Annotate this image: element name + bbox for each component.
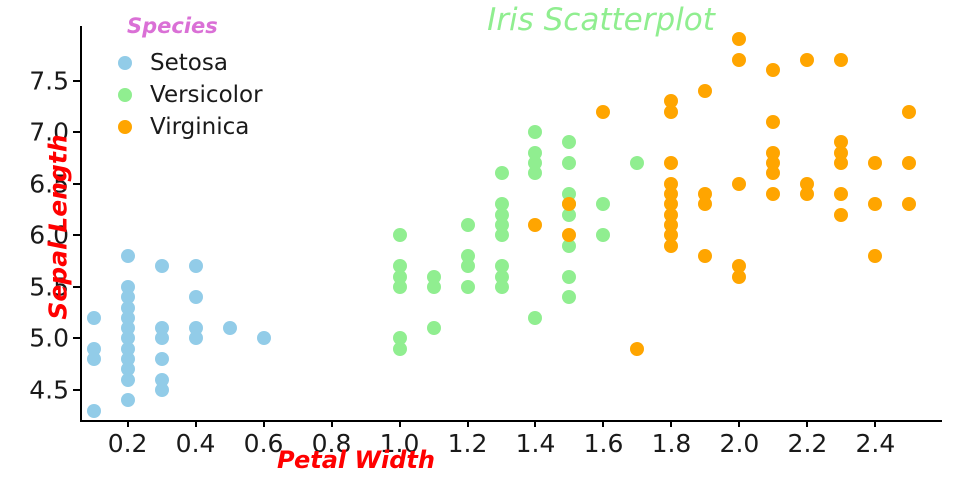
- x-tick-mark: [738, 420, 740, 427]
- data-point-virginica: [868, 249, 882, 263]
- data-point-virginica: [562, 228, 576, 242]
- data-point-setosa: [87, 311, 101, 325]
- data-point-versicolor: [596, 197, 610, 211]
- data-point-setosa: [121, 393, 135, 407]
- x-tick-mark: [399, 420, 401, 427]
- data-point-versicolor: [495, 166, 509, 180]
- data-point-versicolor: [393, 280, 407, 294]
- data-point-versicolor: [528, 125, 542, 139]
- data-point-versicolor: [427, 280, 441, 294]
- data-point-virginica: [664, 156, 678, 170]
- x-tick-label: 2.0: [720, 431, 760, 456]
- y-tick-mark: [73, 183, 80, 185]
- x-tick-mark: [670, 420, 672, 427]
- data-point-versicolor: [393, 228, 407, 242]
- data-point-virginica: [698, 84, 712, 98]
- data-point-versicolor: [528, 311, 542, 325]
- data-point-virginica: [868, 197, 882, 211]
- data-point-virginica: [834, 53, 848, 67]
- data-point-setosa: [155, 352, 169, 366]
- data-point-virginica: [596, 105, 610, 119]
- data-point-versicolor: [427, 321, 441, 335]
- data-point-setosa: [155, 383, 169, 397]
- data-point-virginica: [732, 177, 746, 191]
- x-tick-label: 0.4: [176, 431, 216, 456]
- data-point-setosa: [189, 290, 203, 304]
- data-point-setosa: [87, 404, 101, 418]
- data-point-virginica: [528, 218, 542, 232]
- data-point-virginica: [868, 156, 882, 170]
- data-point-virginica: [732, 270, 746, 284]
- data-point-versicolor: [630, 156, 644, 170]
- data-point-virginica: [732, 32, 746, 46]
- data-point-setosa: [155, 259, 169, 273]
- y-tick-mark: [73, 80, 80, 82]
- data-point-virginica: [562, 197, 576, 211]
- data-point-setosa: [87, 352, 101, 366]
- data-point-versicolor: [393, 342, 407, 356]
- x-tick-label: 0.2: [108, 431, 148, 456]
- data-point-versicolor: [562, 135, 576, 149]
- data-point-virginica: [800, 187, 814, 201]
- x-tick-label: 1.6: [584, 431, 624, 456]
- data-point-setosa: [121, 373, 135, 387]
- data-point-virginica: [766, 115, 780, 129]
- x-tick-label: 1.2: [448, 431, 488, 456]
- y-tick-mark: [73, 389, 80, 391]
- x-axis-label: Petal Width: [277, 446, 435, 474]
- data-point-virginica: [766, 187, 780, 201]
- data-point-virginica: [834, 156, 848, 170]
- x-tick-mark: [874, 420, 876, 427]
- data-point-versicolor: [461, 218, 475, 232]
- x-tick-label: 2.4: [856, 431, 896, 456]
- x-tick-mark: [263, 420, 265, 427]
- data-point-virginica: [664, 105, 678, 119]
- data-point-virginica: [698, 197, 712, 211]
- x-axis-line: [80, 420, 942, 422]
- data-point-setosa: [257, 331, 271, 345]
- x-tick-mark: [127, 420, 129, 427]
- y-tick-label: 4.5: [29, 378, 69, 403]
- y-tick-label: 7.5: [29, 68, 69, 93]
- scatterplot-figure: Iris Scatterplot Species Setosa Versicol…: [0, 0, 960, 500]
- data-point-virginica: [732, 53, 746, 67]
- data-point-setosa: [121, 249, 135, 263]
- plot-area: 4.55.05.56.06.57.07.5 0.20.40.60.81.01.2…: [80, 30, 940, 420]
- y-tick-mark: [73, 234, 80, 236]
- data-point-virginica: [800, 53, 814, 67]
- data-point-virginica: [698, 249, 712, 263]
- data-point-versicolor: [562, 270, 576, 284]
- data-point-versicolor: [528, 166, 542, 180]
- x-tick-label: 2.2: [788, 431, 828, 456]
- x-tick-mark: [534, 420, 536, 427]
- y-tick-mark: [73, 337, 80, 339]
- data-point-setosa: [189, 331, 203, 345]
- data-point-virginica: [766, 63, 780, 77]
- data-point-versicolor: [495, 228, 509, 242]
- data-point-versicolor: [596, 228, 610, 242]
- x-tick-mark: [467, 420, 469, 427]
- data-point-virginica: [664, 239, 678, 253]
- data-point-versicolor: [562, 156, 576, 170]
- y-tick-mark: [73, 131, 80, 133]
- x-tick-label: 1.8: [652, 431, 692, 456]
- x-tick-mark: [195, 420, 197, 427]
- data-point-setosa: [223, 321, 237, 335]
- data-point-versicolor: [461, 259, 475, 273]
- x-tick-mark: [331, 420, 333, 427]
- data-point-virginica: [834, 208, 848, 222]
- x-tick-label: 1.4: [516, 431, 556, 456]
- data-point-virginica: [834, 187, 848, 201]
- data-point-versicolor: [495, 280, 509, 294]
- data-point-versicolor: [562, 290, 576, 304]
- x-tick-mark: [806, 420, 808, 427]
- data-point-versicolor: [461, 280, 475, 294]
- data-point-virginica: [630, 342, 644, 356]
- data-point-setosa: [155, 331, 169, 345]
- y-tick-mark: [73, 286, 80, 288]
- data-point-virginica: [902, 156, 916, 170]
- data-point-virginica: [902, 105, 916, 119]
- data-point-setosa: [189, 259, 203, 273]
- data-point-virginica: [902, 197, 916, 211]
- y-axis-label: Sepal Length: [44, 134, 73, 319]
- data-point-virginica: [766, 166, 780, 180]
- x-tick-mark: [602, 420, 604, 427]
- y-tick-label: 5.0: [29, 326, 69, 351]
